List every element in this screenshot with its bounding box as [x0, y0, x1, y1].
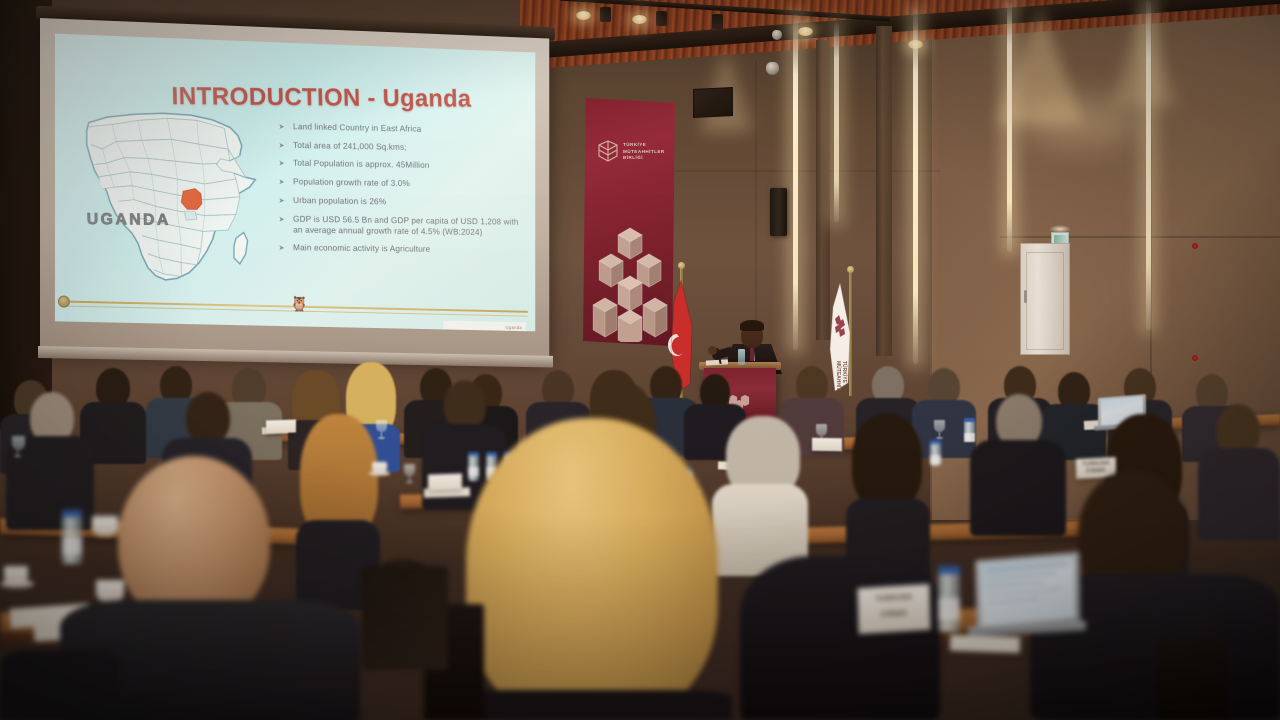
glass-base: [14, 455, 21, 457]
association-flag: TÜRKİYE MÜTEAHHİTLER: [826, 283, 854, 391]
paper-sheet: [950, 635, 1021, 653]
audience-head: [444, 380, 486, 430]
africa-map: UGANDA: [73, 96, 265, 300]
handbag-handle: [374, 560, 432, 588]
led-light-strip: [793, 14, 798, 350]
light-glow: [1020, 96, 1140, 148]
door-panel-inset: [1026, 252, 1064, 350]
audience-head: [186, 392, 230, 444]
bullet-arrow-icon: ➤: [279, 158, 285, 169]
podium-water-bottle: [738, 349, 745, 365]
list-item: ➤ Land linked Country in East Africa: [279, 121, 528, 137]
banner-org-line1: TÜRKİYE: [623, 142, 671, 149]
table-name-card: [428, 473, 462, 490]
bottle-label: [930, 455, 941, 464]
ceiling-spotlight: [798, 27, 813, 36]
laptop-screen-row: [987, 587, 1061, 596]
laptop-screen-row: [987, 597, 1039, 605]
list-item-label: Total area of 241,000 Sq.kms;: [293, 140, 407, 152]
slide-footer-tag-label: Uganda: [505, 325, 522, 330]
audience-torso: [1198, 448, 1280, 540]
cube-stack-logo-icon: [597, 140, 619, 166]
crane-bird-logo-icon: 🦉: [290, 297, 305, 317]
glass-base: [378, 437, 385, 439]
flag-org-line1: TÜRKİYE: [841, 361, 848, 384]
led-light-strip: [834, 22, 839, 222]
security-camera-icon: [772, 30, 782, 40]
coffee-saucer: [369, 471, 390, 476]
speaker-hair: [740, 320, 764, 331]
projection-screen: INTRODUCTION - Uganda: [40, 18, 549, 358]
list-item-label: Land linked Country in East Africa: [293, 121, 421, 133]
bullet-arrow-icon: ➤: [279, 139, 285, 150]
list-item-label: Urban population is 26%: [293, 195, 386, 206]
bottle-label: [62, 537, 82, 555]
water-bottle: [938, 566, 960, 632]
wine-glass: [404, 464, 415, 483]
security-camera-icon: [766, 62, 779, 75]
ceiling-spotlight: [632, 15, 647, 24]
wall-seam: [1000, 236, 1280, 238]
laptop-screen: [980, 556, 1075, 626]
name-card-line2: FIRMS: [858, 608, 930, 620]
audience-torso: [0, 650, 120, 720]
led-light-strip: [1146, 0, 1151, 330]
association-flag-svg: TÜRKİYE MÜTEAHHİTLER: [826, 283, 854, 391]
table-name-card: TURKISH FIRMS: [857, 584, 930, 634]
wine-glass: [12, 436, 25, 458]
coffee-cup: [96, 580, 124, 602]
laptop-screen-row: [987, 571, 1057, 580]
conference-hall-photo: INTRODUCTION - Uganda: [0, 0, 1280, 720]
presentation-slide: INTRODUCTION - Uganda: [55, 34, 535, 332]
glass-bowl: [404, 464, 415, 476]
wall-light-cone: [1112, 6, 1176, 106]
bottle-label: [964, 433, 975, 442]
list-item-label: GDP is USD 56.5 Bn and GDP per capita of…: [293, 213, 519, 236]
wine-glass: [934, 420, 945, 439]
banner-org-line3: BİRLİĞİ: [623, 155, 671, 162]
list-item-label: Main economic activity is Agriculture: [293, 243, 430, 254]
table-name-card: [812, 438, 842, 452]
madagascar: [234, 232, 248, 264]
water-bottle: [930, 440, 941, 466]
uganda-highlight: [181, 188, 202, 209]
bottle-label: [938, 598, 960, 620]
glass-bowl: [376, 420, 387, 432]
list-item-label: Total Population is approx. 45Million: [293, 158, 430, 170]
coffee-cup: [92, 516, 118, 536]
fire-alarm-icon: [1192, 355, 1198, 361]
banner-org-name: TÜRKİYE MÜTEAHHİTLER BİRLİĞİ: [623, 142, 671, 162]
flag-pole-finial: [678, 262, 685, 269]
list-item: ➤ Total area of 241,000 Sq.kms;: [279, 139, 528, 155]
association-banner: TÜRKİYE MÜTEAHHİTLER BİRLİĞİ: [583, 98, 675, 346]
round-seal-emblem-icon: [58, 295, 70, 307]
door-handle[interactable]: [1024, 290, 1027, 303]
laptop-screen-row: [987, 581, 1045, 589]
track-spotlight-head: [600, 7, 611, 22]
glass-bowl: [816, 424, 827, 436]
audience-torso: [740, 556, 940, 720]
glass-bowl: [12, 436, 25, 450]
bullet-arrow-icon: ➤: [279, 195, 285, 206]
wall-mounted-monitor: [693, 87, 733, 118]
water-bottle: [62, 510, 82, 564]
bottle-label: [468, 467, 479, 476]
fire-alarm-icon: [1192, 243, 1198, 249]
track-spotlight-head: [712, 14, 723, 29]
table-name-card: [266, 419, 296, 433]
cube-stack-graphic: [589, 224, 671, 342]
audience-hair: [852, 414, 922, 510]
wine-glass: [376, 420, 387, 439]
list-item: ➤ Total Population is approx. 45Million: [279, 158, 528, 173]
map-country-label: UGANDA: [87, 211, 171, 230]
water-bottle: [468, 452, 479, 481]
audience-torso: [452, 690, 732, 720]
glass-base: [406, 481, 413, 483]
slide-bullet-list: ➤ Land linked Country in East Africa ➤ T…: [279, 119, 528, 265]
bullet-arrow-icon: ➤: [279, 176, 285, 187]
water-bottle: [964, 418, 975, 442]
glass-bowl: [934, 420, 945, 432]
track-spotlight-head: [656, 11, 667, 26]
coffee-saucer: [0, 580, 34, 588]
wall-pillar: [876, 26, 892, 356]
name-card-line1: TURKISH: [858, 592, 930, 604]
led-light-strip: [1007, 0, 1012, 252]
emergency-exit-sign: [1051, 232, 1069, 244]
bullet-arrow-icon: ➤: [279, 121, 285, 132]
list-item: ➤ GDP is USD 56.5 Bn and GDP per capita …: [278, 213, 527, 238]
list-item: ➤ Population growth rate of 3.0%: [279, 176, 528, 191]
flag-pole-finial: [847, 266, 854, 273]
led-light-strip: [913, 8, 918, 364]
lake-victoria: [184, 211, 197, 220]
audience-torso: [970, 440, 1066, 536]
speaker-tie: [750, 347, 754, 361]
exit-sign-pictogram: [1054, 235, 1068, 243]
africa-map-svg: [73, 96, 265, 300]
flag-org-line2: MÜTEAHHİTLER: [835, 361, 842, 391]
bullet-arrow-icon: ➤: [279, 243, 285, 254]
list-item: ➤ Main economic activity is Agriculture: [279, 243, 528, 257]
glass-base: [936, 437, 943, 439]
list-item-label: Population growth rate of 3.0%: [293, 176, 410, 188]
audience-hair-blonde-foreground: [466, 418, 718, 720]
wall-speaker-icon: [770, 188, 787, 236]
laptop-lid[interactable]: [975, 552, 1080, 633]
wall-seam: [755, 60, 757, 360]
bullet-arrow-icon: ➤: [278, 213, 284, 224]
list-item: ➤ Urban population is 26%: [279, 195, 528, 210]
chair-back: [1158, 640, 1228, 720]
service-door[interactable]: [1020, 243, 1070, 355]
ceiling-spotlight: [576, 11, 591, 20]
